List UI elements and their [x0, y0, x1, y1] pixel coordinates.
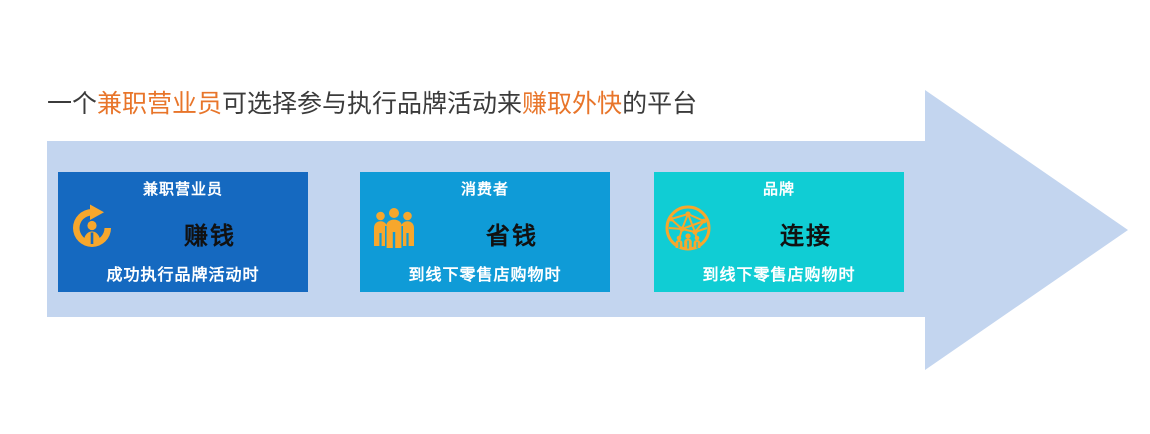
card-footer: 到线下零售店购物时	[360, 261, 610, 285]
card-footer: 成功执行品牌活动时	[58, 261, 308, 285]
page-title: 一个兼职营业员可选择参与执行品牌活动来赚取外快的平台	[47, 86, 847, 122]
globe-network-icon	[662, 202, 714, 254]
headline-segment-4: 的平台	[622, 89, 697, 118]
people-group-icon	[368, 202, 420, 254]
headline-segment-3: 赚取外快	[522, 89, 622, 118]
card-footer: 到线下零售店购物时	[654, 261, 904, 285]
card-part-time-clerk[interactable]: 兼职营业员 赚钱 成功执行品牌活动时	[58, 172, 308, 292]
card-brand[interactable]: 品牌	[654, 172, 904, 292]
card-headline: 连接	[716, 216, 896, 251]
card-title: 品牌	[654, 178, 904, 199]
card-title: 兼职营业员	[58, 178, 308, 199]
headline-segment-1: 兼职营业员	[97, 89, 222, 118]
headline-segment-2: 可选择参与执行品牌活动来	[222, 89, 522, 118]
card-headline: 省钱	[422, 216, 602, 251]
card-headline: 赚钱	[120, 216, 300, 251]
card-row: 兼职营业员 赚钱 成功执行品牌活动时 消费者	[58, 172, 904, 292]
headline-segment-0: 一个	[47, 89, 97, 118]
card-title: 消费者	[360, 178, 610, 199]
card-consumer[interactable]: 消费者 省钱	[360, 172, 610, 292]
person-refresh-icon	[66, 202, 118, 254]
slide-canvas: 一个兼职营业员可选择参与执行品牌活动来赚取外快的平台 兼职营业员 赚钱 成功执行…	[0, 0, 1150, 430]
